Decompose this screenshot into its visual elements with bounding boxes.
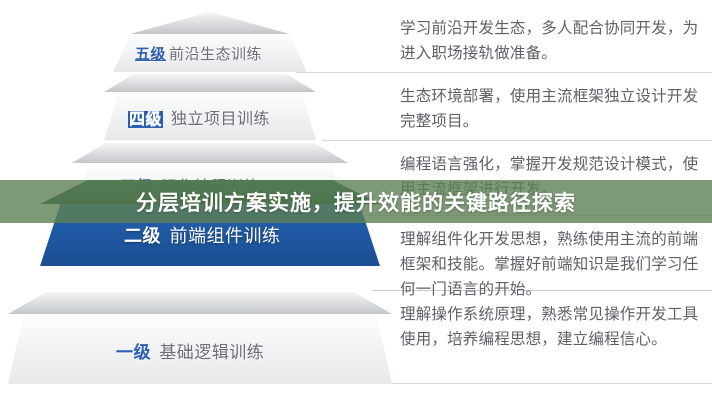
pyramid-tier-4[interactable]: 四级 独立项目训练 <box>104 92 316 140</box>
tier-1-name: 基础逻辑训练 <box>159 343 264 362</box>
description-level-4: 生态环境部署，使用主流框架独立设计开发完整项目。 <box>400 84 704 134</box>
tier-4-name: 独立项目训练 <box>171 111 270 128</box>
infographic-canvas: 五级前沿生态训练 四级 独立项目训练 三级 强化编程训练 <box>0 0 712 400</box>
tier-1-top-facet <box>8 292 392 314</box>
pyramid-tier-1-top[interactable] <box>8 292 392 314</box>
tier-2-label: 二级 前端组件训练 <box>124 222 281 248</box>
tier-2-name: 前端组件训练 <box>170 226 281 246</box>
tier-2-level: 二级 <box>124 226 161 246</box>
tier-3-top-facet <box>72 143 348 163</box>
tier-4-top-facet <box>104 74 316 92</box>
title-banner: 分层培训方案实施，提升效能的关键路径探索 <box>0 180 712 223</box>
banner-title: 分层培训方案实施，提升效能的关键路径探索 <box>0 187 712 217</box>
pyramid-tier-1[interactable]: 一级 基础逻辑训练 <box>8 314 392 384</box>
tier-1-label: 一级 基础逻辑训练 <box>116 338 264 363</box>
tier-1-level: 一级 <box>116 343 151 362</box>
pyramid-tier-5[interactable] <box>130 12 290 34</box>
pyramid-tier-3-top[interactable] <box>72 143 348 163</box>
description-level-1: 理解操作系统原理，熟悉常见操作开发工具使用，培养编程思想，建立编程信心。 <box>400 302 704 352</box>
description-level-5: 学习前沿开发生态，多人配合协同开发，为进入职场接轨做准备。 <box>400 16 704 66</box>
tier-4-label: 四级 独立项目训练 <box>128 105 270 129</box>
pyramid-tier-5-face[interactable]: 五级前沿生态训练 <box>113 34 307 72</box>
tier-5-level: 五级 <box>135 46 166 63</box>
pyramid-tier-4-top[interactable] <box>104 74 316 92</box>
tier-5-label: 五级前沿生态训练 <box>135 43 262 64</box>
tier-5-top-facet <box>130 12 290 34</box>
tier-4-level: 四级 <box>128 111 163 128</box>
tier-5-name: 前沿生态训练 <box>169 46 262 63</box>
description-level-2: 理解组件化开发思想，熟练使用主流的前端框架和技能。掌握好前端知识是我们学习任何一… <box>400 227 704 302</box>
